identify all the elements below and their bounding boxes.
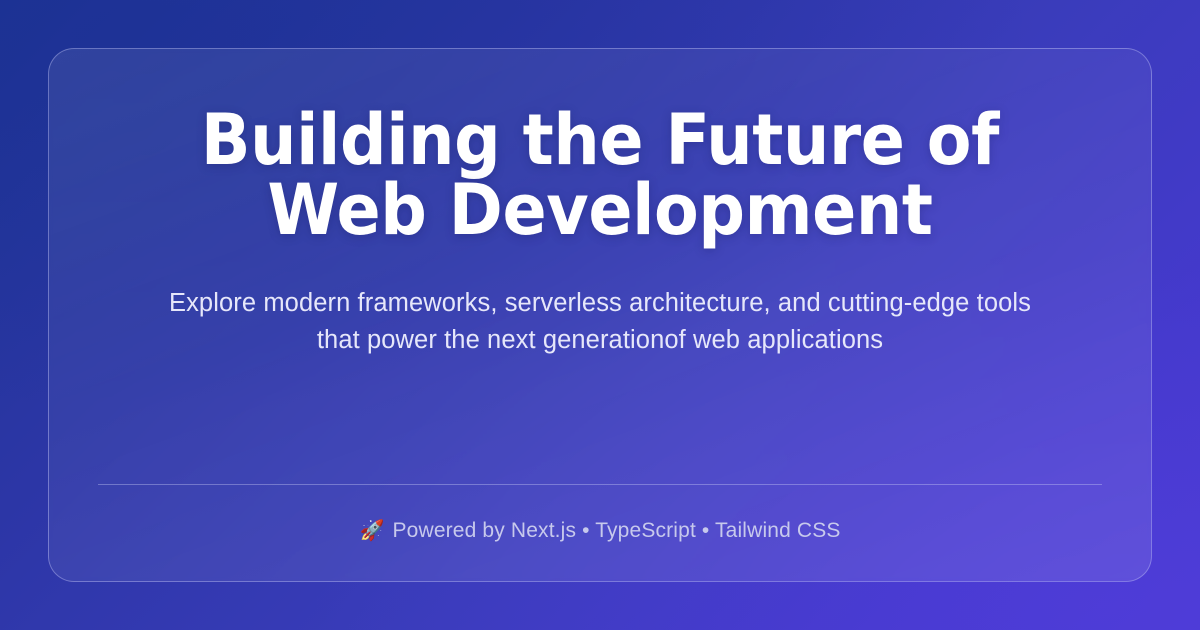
hero-card: Building the Future of Web Development E… bbox=[48, 48, 1152, 582]
rocket-icon: 🚀 bbox=[359, 517, 384, 545]
page-title: Building the Future of Web Development bbox=[140, 95, 1061, 245]
footer-credits: 🚀 Powered by Next.js • TypeScript • Tail… bbox=[105, 485, 1095, 545]
page-subtitle: Explore modern frameworks, serverless ar… bbox=[160, 245, 1040, 359]
footer-credits-label: Powered by Next.js • TypeScript • Tailwi… bbox=[393, 517, 841, 545]
og-image-canvas: Building the Future of Web Development E… bbox=[0, 0, 1200, 630]
